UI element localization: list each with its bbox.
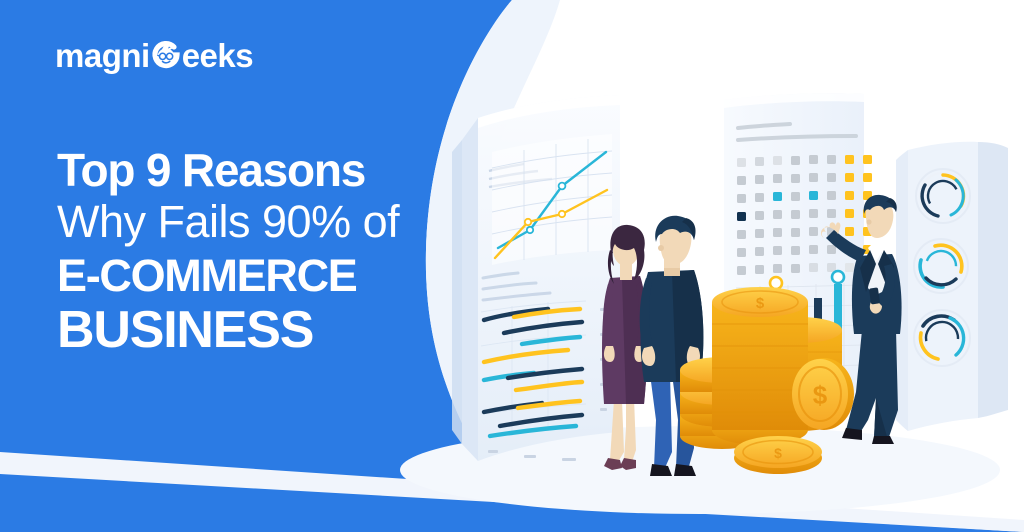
logo-text-left: magni — [55, 39, 150, 72]
svg-text:$: $ — [813, 380, 828, 410]
brand-wordmark: magni eeks — [55, 38, 253, 72]
headline-line-2: Why Fails 90% of — [57, 199, 487, 244]
headline-line-1: Top 9 Reasons — [57, 147, 487, 193]
headline-block: Top 9 Reasons Why Fails 90% of E-COMMERC… — [57, 147, 487, 356]
headline-line-4: BUSINESS — [57, 304, 487, 356]
brand-logo[interactable]: magni eeks — [55, 33, 253, 77]
upright-coin: $ — [792, 358, 854, 430]
svg-text:$: $ — [756, 295, 765, 312]
left-panel-line-chart — [492, 134, 612, 265]
svg-text:$: $ — [774, 445, 782, 461]
banner-canvas: $ $ $ — [0, 0, 1024, 532]
woman-figure — [602, 225, 647, 470]
right-dashboard-panel — [896, 142, 1008, 431]
coin-stack-center: $ — [712, 287, 808, 445]
geek-face-g-icon — [149, 38, 183, 72]
floor-coin: $ — [734, 436, 822, 474]
headline-line-3: E-COMMERCE — [57, 253, 487, 298]
logo-text-right: eeks — [182, 39, 253, 72]
